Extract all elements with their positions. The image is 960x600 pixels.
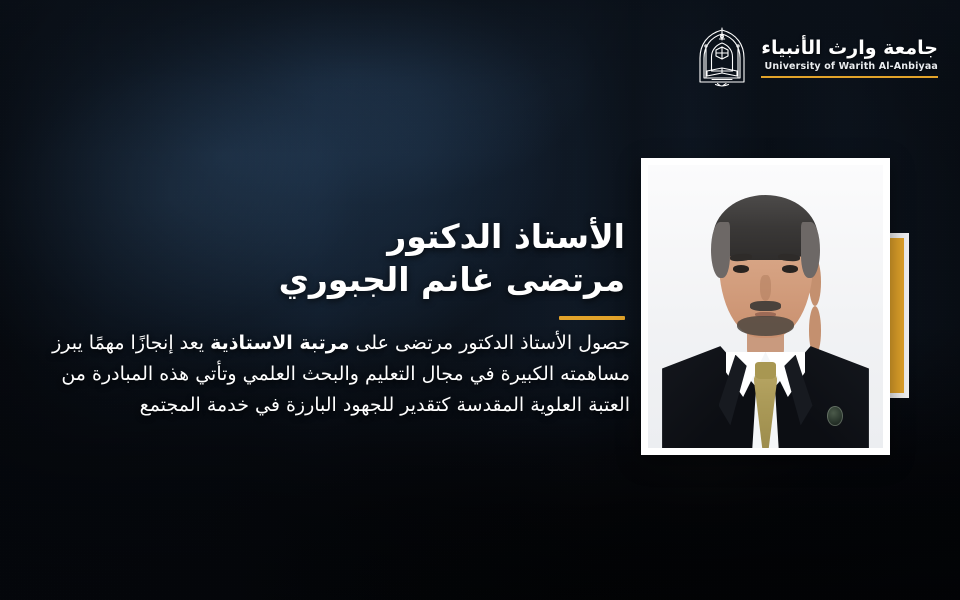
portrait-hair-temple-right: [801, 222, 820, 279]
headline-line-2: مرتضى غانم الجبوري: [279, 259, 625, 302]
portrait-eye-right: [782, 265, 798, 272]
university-crest-icon: [693, 26, 751, 88]
portrait-eye-left: [733, 265, 749, 272]
poster-canvas: جامعة وارث الأنبياء University of Warith…: [0, 0, 960, 600]
paragraph-highlight: مرتبة الاستاذية: [210, 332, 349, 354]
portrait-moustache: [750, 301, 781, 311]
brand-name-arabic: جامعة وارث الأنبياء: [761, 38, 938, 59]
brand-lockup: جامعة وارث الأنبياء University of Warith…: [693, 26, 938, 88]
paragraph-part-1: حصول الأستاذ الدكتور مرتضى على: [349, 332, 630, 354]
announcement-paragraph: حصول الأستاذ الدكتور مرتضى على مرتبة الا…: [35, 328, 630, 420]
brand-text-block: جامعة وارث الأنبياء University of Warith…: [761, 36, 938, 78]
headline-accent-rule: [559, 316, 625, 320]
brand-name-english: University of Warith Al-Anbiyaa: [761, 61, 938, 72]
portrait-tie-knot: [755, 362, 776, 379]
brand-underline-rule: [761, 76, 938, 78]
headline-line-1: الأستاذ الدكتور: [279, 216, 625, 259]
portrait-frame: [641, 158, 890, 455]
headline-block: الأستاذ الدكتور مرتضى غانم الجبوري: [279, 216, 625, 320]
portrait-nose: [760, 275, 772, 300]
portrait-photo: [648, 165, 883, 448]
portrait-hair-temple-left: [711, 222, 730, 279]
portrait-beard: [737, 316, 793, 336]
